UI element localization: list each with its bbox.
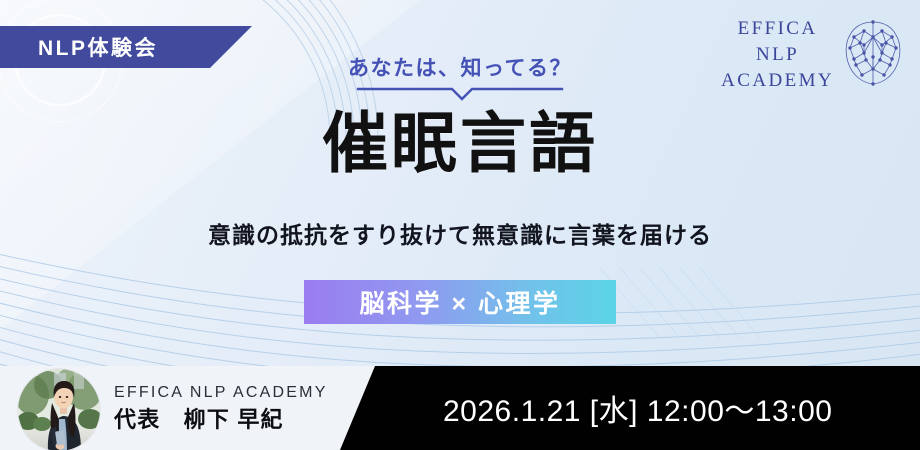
presenter-name: 代表 柳下 早紀 (114, 405, 328, 435)
kicker-block: あなたは、知ってる？ (0, 52, 920, 102)
topic-badge-label: 脳科学 × 心理学 (360, 284, 561, 320)
event-date-panel: 2026.1.21 [水] 12:00〜13:00 (340, 366, 920, 450)
event-date-text: 2026.1.21 [水] 12:00〜13:00 (340, 386, 832, 430)
presenter-organization: EFFICA NLP ACADEMY (114, 381, 328, 405)
footer-bar: 2026.1.21 [水] 12:00〜13:00 (0, 366, 920, 450)
brand-logo-line-1: EFFICA (721, 16, 834, 42)
kicker-underline-icon (356, 86, 564, 102)
presenter-block: EFFICA NLP ACADEMY 代表 柳下 早紀 (18, 366, 328, 450)
avatar (18, 369, 100, 450)
seminar-banner: NLP体験会 EFFICA NLP ACADEMY (0, 0, 920, 450)
page-subtitle: 意識の抵抗をすり抜けて無意識に言葉を届ける (0, 216, 920, 250)
kicker-text: あなたは、知ってる？ (348, 52, 572, 82)
page-title: 催眠言語 (0, 106, 920, 182)
presenter-photo (18, 369, 100, 450)
presenter-text: EFFICA NLP ACADEMY 代表 柳下 早紀 (114, 381, 328, 435)
topic-badge: 脳科学 × 心理学 (304, 280, 616, 324)
